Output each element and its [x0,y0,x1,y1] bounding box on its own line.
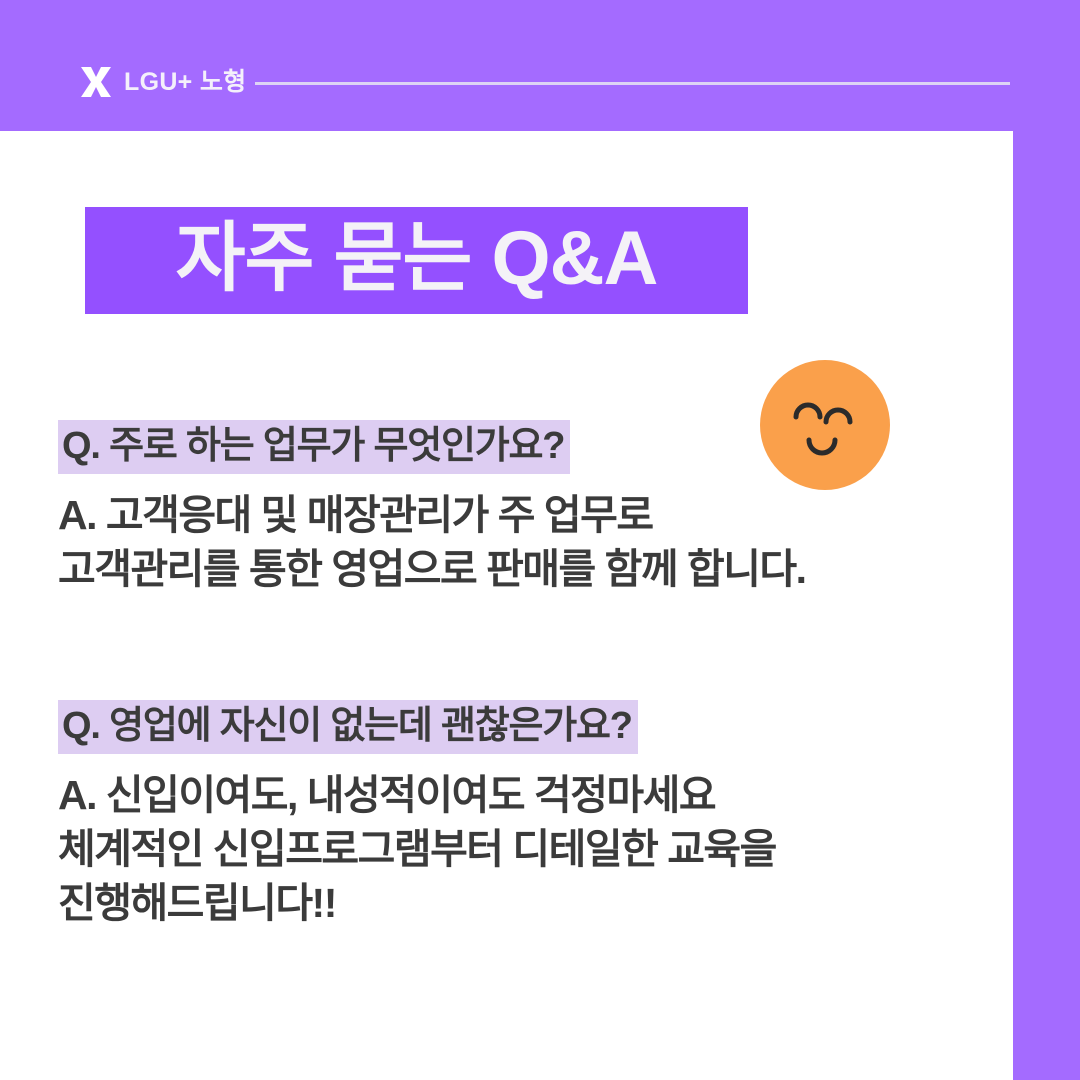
right-accent-bar [1013,131,1080,1080]
faq-card: LGU+ 노형 자주 묻는 Q&A Q. 주로 하는 업무가 무엇인가요? A.… [0,0,1080,1080]
page-title: 자주 묻는 Q&A [176,221,658,297]
brand-logo: LGU+ 노형 [80,62,246,102]
faq-item-1: Q. 주로 하는 업무가 무엇인가요? A. 고객응대 및 매장관리가 주 업무… [58,420,806,596]
header-divider [255,82,1010,85]
title-banner: 자주 묻는 Q&A [85,207,748,314]
lgu-plus-bowtie-mark-icon [80,67,112,97]
faq-answer: A. 고객응대 및 매장관리가 주 업무로 고객관리를 통한 영업으로 판매를 … [58,488,806,596]
faq-item-2: Q. 영업에 자신이 없는데 괜찮은가요? A. 신입이여도, 내성적이여도 걱… [58,700,776,930]
header-band: LGU+ 노형 [0,0,1080,131]
faq-question: Q. 영업에 자신이 없는데 괜찮은가요? [58,700,638,754]
faq-answer: A. 신입이여도, 내성적이여도 걱정마세요 체계적인 신입프로그램부터 디테일… [58,768,776,930]
brand-name: LGU+ 노형 [124,70,246,95]
faq-question: Q. 주로 하는 업무가 무엇인가요? [58,420,570,474]
